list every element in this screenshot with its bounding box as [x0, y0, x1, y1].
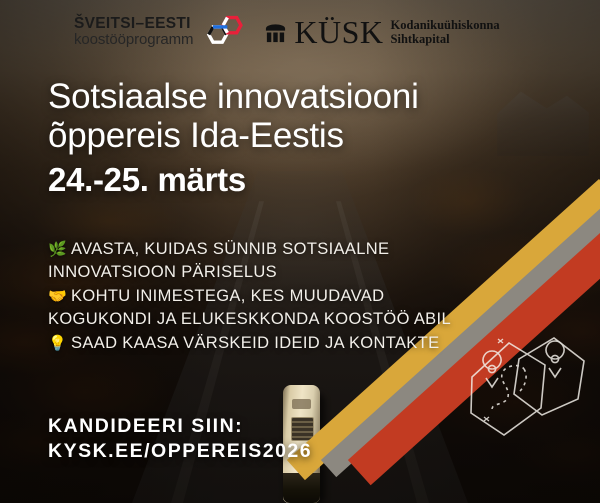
cta-label: KANDIDEERI SIIN:: [48, 414, 312, 439]
promo-poster: ŠVEITSI–EESTI koostööprogramm: [0, 0, 600, 503]
swiss-logo-line2: koostööprogramm: [74, 32, 193, 48]
title-line-1: Sotsiaalse innovatsiooni: [48, 78, 548, 117]
bus-front: [283, 473, 320, 503]
list-item: 🌿AVASTA, KUIDAS SÜNNIB SOTSIAALNE INNOVA…: [48, 238, 468, 284]
kusk-subtitle-line2: Sihtkapital: [391, 32, 500, 47]
kusk-building-icon: [264, 20, 287, 45]
seedling-emoji: 🌿: [48, 241, 67, 258]
list-item-text: AVASTA, KUIDAS SÜNNIB SOTSIAALNE INNOVAT…: [48, 240, 389, 281]
headline-block: Sotsiaalse innovatsiooni õppereis Ida-Ee…: [48, 78, 548, 198]
logo-bar: ŠVEITSI–EESTI koostööprogramm: [0, 0, 600, 64]
call-to-action[interactable]: KANDIDEERI SIIN: KYSK.EE/OPPEREIS2026: [48, 414, 312, 463]
title-line-2: õppereis Ida-Eestis: [48, 117, 548, 156]
kusk-subtitle-line1: Kodanikuühiskonna: [391, 18, 500, 33]
kusk-wordmark: KÜSK: [294, 16, 383, 48]
interlocking-hexagons-mark: [202, 11, 246, 53]
kusk-logo: KÜSK Kodanikuühiskonna Sihtkapital: [264, 16, 499, 48]
handshake-emoji: 🤝: [48, 288, 67, 305]
list-item: 💡SAAD KAASA VÄRSKEID IDEID JA KONTAKTE: [48, 332, 468, 355]
cta-url[interactable]: KYSK.EE/OPPEREIS2026: [48, 439, 312, 464]
swiss-logo-line1: ŠVEITSI–EESTI: [74, 16, 193, 32]
list-item: 🤝KOHTU INIMESTEGA, KES MUUDAVAD KOGUKOND…: [48, 285, 468, 331]
bus-roof-hatch: [292, 399, 311, 409]
benefits-list: 🌿AVASTA, KUIDAS SÜNNIB SOTSIAALNE INNOVA…: [48, 238, 468, 356]
hexagon-route-map-graphic: [462, 325, 592, 443]
lightbulb-emoji: 💡: [48, 335, 67, 352]
event-date: 24.-25. märts: [48, 163, 548, 198]
list-item-text: KOHTU INIMESTEGA, KES MUUDAVAD KOGUKONDI…: [48, 287, 451, 328]
list-item-text: SAAD KAASA VÄRSKEID IDEID JA KONTAKTE: [71, 334, 439, 352]
swiss-estonian-logo: ŠVEITSI–EESTI koostööprogramm: [74, 11, 246, 53]
